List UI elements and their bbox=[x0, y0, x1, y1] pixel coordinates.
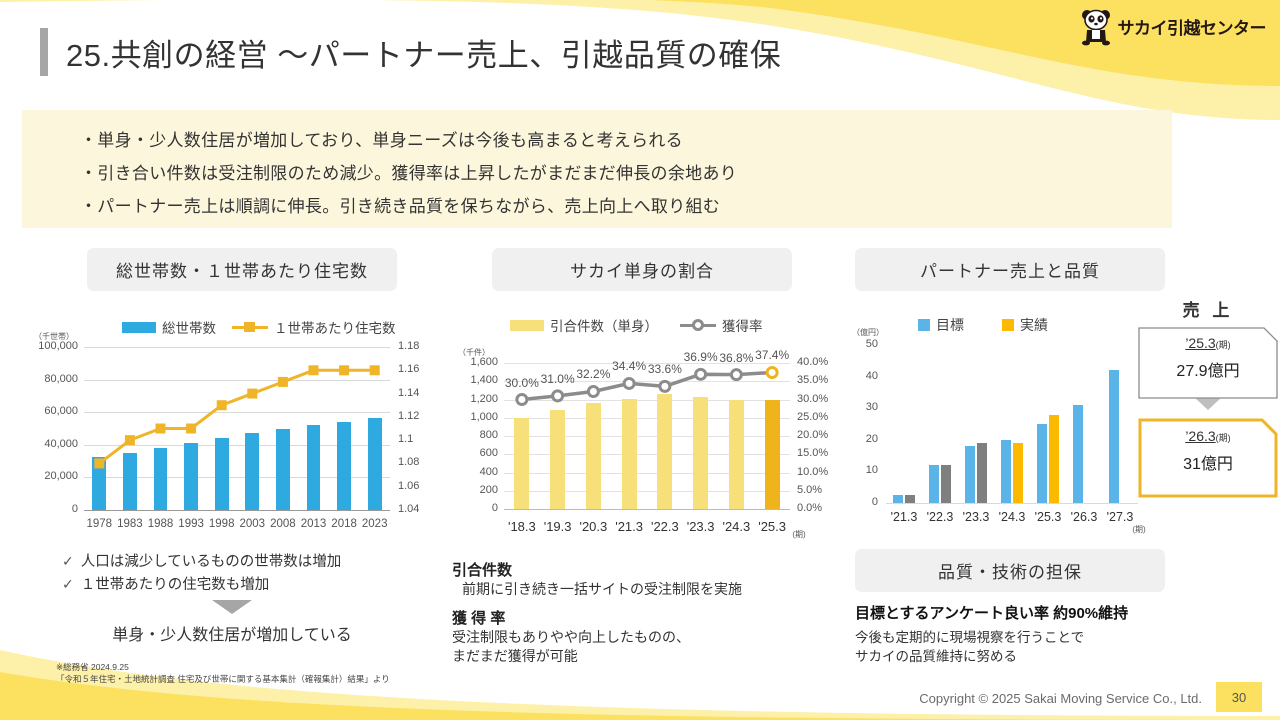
y-tick-left: 0 bbox=[452, 502, 498, 514]
quality-title: 目標とするアンケート良い率 約90%維持 bbox=[855, 602, 1270, 623]
gridline bbox=[84, 347, 390, 348]
gridline bbox=[504, 454, 790, 455]
sales-box-current: ’25.3(期) 27.9億円 bbox=[1138, 327, 1278, 391]
bar-target bbox=[965, 446, 976, 503]
bar-total-households bbox=[92, 457, 106, 510]
gridline bbox=[504, 509, 790, 510]
households-checklist: ✓人口は減少しているものの世帯数は増加 ✓１世帯あたりの住宅数も増加 bbox=[62, 550, 442, 596]
line-data-label: 33.6% bbox=[643, 362, 687, 376]
quality-body: 今後も定期的に現場視察を行うことで bbox=[855, 628, 1270, 647]
y-tick-right: 25.0% bbox=[797, 411, 845, 423]
bar-total-households bbox=[154, 448, 168, 510]
panda-icon bbox=[1080, 6, 1114, 46]
legend-label: 実績 bbox=[1020, 315, 1048, 335]
slide-header: 25.共創の経営 〜パートナー売上、引越品質の確保 サカイ引越センター bbox=[0, 0, 1280, 100]
y-tick-left: 1,600 bbox=[452, 356, 498, 368]
quality-heading: 品質・技術の担保 bbox=[855, 549, 1165, 592]
y-tick-right: 40.0% bbox=[797, 356, 845, 368]
column-households: 総世帯数・１世帯あたり住宅数 （千世帯）総世帯数１世帯あたり住宅数020,000… bbox=[22, 248, 442, 685]
title-accent-bar bbox=[40, 28, 48, 76]
legend-swatch bbox=[680, 319, 716, 331]
households-footnote: ※総務省 2024.9.25 「令和５年住宅・土地統計調査 住宅及び世帯に関する… bbox=[56, 661, 442, 685]
note-body: 受注制限もありやや向上したものの、 まだまだ獲得が可能 bbox=[452, 628, 842, 666]
gridline bbox=[504, 436, 790, 437]
bar-actual bbox=[977, 443, 988, 503]
y-tick-left: 50 bbox=[850, 338, 878, 350]
quality-body: サカイの品質維持に努める bbox=[855, 647, 1270, 666]
axis-baseline bbox=[886, 503, 1138, 504]
y-tick-left: 40,000 bbox=[22, 438, 78, 450]
y-tick-right: 1.08 bbox=[398, 456, 444, 468]
bar-target bbox=[1109, 370, 1120, 503]
bar-total-households bbox=[215, 438, 229, 510]
single-heading: サカイ単身の割合 bbox=[492, 248, 792, 291]
legend-total-households: 総世帯数 bbox=[122, 317, 216, 337]
page-number: 30 bbox=[1216, 682, 1262, 712]
bullet-line: ・単身・少人数住居が増加しており、単身ニーズは今後も高まると考えられる bbox=[80, 124, 1172, 157]
note-title: 獲 得 率 bbox=[452, 607, 842, 628]
sales-box-target: ’26.3(期) 31億円 bbox=[1138, 418, 1278, 486]
legend-swatch bbox=[510, 320, 544, 331]
bar-total-households bbox=[368, 418, 382, 510]
y-tick-right: 35.0% bbox=[797, 374, 845, 386]
column-single: サカイ単身の割合 （千件）引合件数（単身）獲得率02004006008001,0… bbox=[452, 248, 842, 666]
y-tick-left: 20,000 bbox=[22, 470, 78, 482]
y-tick-right: 5.0% bbox=[797, 484, 845, 496]
y-tick-right: 1.14 bbox=[398, 387, 444, 399]
bar-inquiries bbox=[765, 400, 780, 509]
bar-actual bbox=[1049, 415, 1060, 503]
legend-target: 目標 bbox=[918, 315, 964, 335]
bar-target bbox=[1073, 405, 1084, 503]
slide: 25.共創の経営 〜パートナー売上、引越品質の確保 サカイ引越センター ・単身・… bbox=[0, 0, 1280, 720]
y-tick-right: 1.06 bbox=[398, 480, 444, 492]
households-chart: （千世帯）総世帯数１世帯あたり住宅数020,00040,00060,00080,… bbox=[22, 305, 442, 540]
y-tick-right: 0.0% bbox=[797, 502, 845, 514]
legend-label: １世帯あたり住宅数 bbox=[274, 317, 396, 337]
note-body: 前期に引き続き一括サイトの受注制限を実施 bbox=[452, 580, 842, 599]
y-tick-left: 30 bbox=[850, 401, 878, 413]
bar-target bbox=[929, 465, 940, 503]
y-tick-left: 1,200 bbox=[452, 393, 498, 405]
check-item: ✓１世帯あたりの住宅数も増加 bbox=[62, 573, 442, 596]
line-acquisition-rate bbox=[452, 301, 842, 551]
y-tick-right: 15.0% bbox=[797, 447, 845, 459]
partner-sales-chart: （億円）目標実績01020304050'21.3'22.3'23.3'24.3'… bbox=[850, 305, 1150, 545]
bar-total-households bbox=[307, 425, 321, 510]
y-tick-left: 60,000 bbox=[22, 405, 78, 417]
y-tick-right: 1.04 bbox=[398, 503, 444, 515]
bar-total-households bbox=[123, 453, 137, 510]
x-tick: '27.3 bbox=[1101, 510, 1139, 524]
x-tick: '25.3 bbox=[1029, 510, 1067, 524]
bar-total-households bbox=[184, 443, 198, 510]
bar-actual bbox=[1013, 443, 1024, 503]
x-tick: '23.3 bbox=[957, 510, 995, 524]
bar-actual bbox=[905, 495, 916, 503]
bar-inquiries bbox=[586, 403, 601, 509]
footnote-line: ※総務省 2024.9.25 bbox=[56, 661, 442, 673]
single-notes: 引合件数 前期に引き続き一括サイトの受注制限を実施 獲 得 率 受注制限もありや… bbox=[452, 559, 842, 666]
legend-homes-per-household: １世帯あたり住宅数 bbox=[232, 317, 396, 337]
quality-section: 品質・技術の担保 目標とするアンケート良い率 約90%維持 今後も定期的に現場視… bbox=[850, 549, 1270, 666]
y-tick-left: 20 bbox=[850, 433, 878, 445]
households-heading: 総世帯数・１世帯あたり住宅数 bbox=[87, 248, 397, 291]
bar-inquiries bbox=[514, 418, 529, 509]
y-tick-right: 1.16 bbox=[398, 363, 444, 375]
y-tick-left: 200 bbox=[452, 484, 498, 496]
legend-actual: 実績 bbox=[1002, 315, 1048, 335]
households-conclusion: 単身・少人数住居が増加している bbox=[22, 621, 442, 645]
bar-actual bbox=[941, 465, 952, 503]
legend-label: 総世帯数 bbox=[162, 317, 216, 337]
bar-target bbox=[1037, 424, 1048, 503]
summary-bullets: ・単身・少人数住居が増加しており、単身ニーズは今後も高まると考えられる ・引き合… bbox=[22, 110, 1172, 228]
legend-swatch bbox=[918, 319, 930, 331]
y-axis-unit-left: （億円） bbox=[852, 327, 884, 338]
sales-year: ’25.3(期) bbox=[1138, 335, 1278, 351]
bar-inquiries bbox=[657, 394, 672, 509]
legend-swatch bbox=[232, 322, 268, 333]
footnote-line: 「令和５年住宅・土地統計調査 住宅及び世帯に関する基本集計（確報集計）結果」より bbox=[56, 673, 442, 685]
legend-swatch bbox=[122, 322, 156, 333]
y-tick-left: 0 bbox=[22, 503, 78, 515]
sales-amount: 31億円 bbox=[1138, 450, 1278, 474]
y-tick-left: 800 bbox=[452, 429, 498, 441]
column-partner: パートナー売上と品質 （億円）目標実績01020304050'21.3'22.3… bbox=[850, 248, 1270, 666]
x-tick: '26.3 bbox=[1065, 510, 1103, 524]
legend-acquisition-rate: 獲得率 bbox=[680, 315, 763, 335]
y-tick-right: 1.12 bbox=[398, 410, 444, 422]
title-text: 25.共創の経営 〜パートナー売上、引越品質の確保 bbox=[66, 30, 781, 75]
y-tick-left: 600 bbox=[452, 447, 498, 459]
y-tick-left: 0 bbox=[850, 496, 878, 508]
bar-total-households bbox=[337, 422, 351, 510]
bar-target bbox=[893, 495, 904, 503]
gridline bbox=[504, 418, 790, 419]
partner-heading: パートナー売上と品質 bbox=[855, 248, 1165, 291]
bar-target bbox=[1001, 440, 1012, 503]
sales-amount: 27.9億円 bbox=[1138, 357, 1278, 381]
note-title: 引合件数 bbox=[452, 559, 842, 580]
y-tick-left: 80,000 bbox=[22, 373, 78, 385]
y-tick-right: 1.1 bbox=[398, 433, 444, 445]
gridline bbox=[504, 491, 790, 492]
y-tick-left: 1,000 bbox=[452, 411, 498, 423]
gridline bbox=[504, 473, 790, 474]
down-arrow-icon bbox=[22, 598, 442, 621]
gridline bbox=[504, 400, 790, 401]
gridline bbox=[84, 510, 390, 511]
x-tick: 2023 bbox=[353, 518, 397, 530]
bar-total-households bbox=[276, 429, 290, 510]
y-tick-left: 1,400 bbox=[452, 374, 498, 386]
gridline bbox=[84, 380, 390, 381]
legend-label: 獲得率 bbox=[722, 315, 763, 335]
bar-total-households bbox=[245, 433, 259, 510]
line-data-label: 37.4% bbox=[750, 348, 794, 362]
single-ratio-chart: （千件）引合件数（単身）獲得率02004006008001,0001,2001,… bbox=[452, 301, 842, 551]
y-tick-left: 100,000 bbox=[22, 340, 78, 352]
legend-label: 引合件数（単身） bbox=[550, 315, 658, 335]
x-axis-suffix: (期) bbox=[1124, 524, 1154, 535]
copyright-text: Copyright © 2025 Sakai Moving Service Co… bbox=[919, 691, 1202, 706]
legend-swatch bbox=[1002, 319, 1014, 331]
bar-inquiries bbox=[693, 397, 708, 509]
x-axis-suffix: (期) bbox=[784, 529, 814, 540]
sales-year: ’26.3(期) bbox=[1138, 428, 1278, 444]
y-tick-left: 40 bbox=[850, 370, 878, 382]
y-tick-right: 1.18 bbox=[398, 340, 444, 352]
sales-title: 売 上 bbox=[1138, 296, 1278, 321]
legend-label: 目標 bbox=[936, 315, 964, 335]
check-item: ✓人口は減少しているものの世帯数は増加 bbox=[62, 550, 442, 573]
logo-text: サカイ引越センター bbox=[1118, 14, 1267, 39]
legend-inquiries: 引合件数（単身） bbox=[510, 315, 658, 335]
bar-inquiries bbox=[622, 399, 637, 509]
company-logo: サカイ引越センター bbox=[1080, 6, 1267, 46]
x-tick: '24.3 bbox=[993, 510, 1031, 524]
y-tick-left: 400 bbox=[452, 466, 498, 478]
x-tick: '22.3 bbox=[921, 510, 959, 524]
bullet-line: ・引き合い件数は受注制限のため減少。獲得率は上昇したがまだまだ伸長の余地あり bbox=[80, 157, 1172, 190]
y-tick-left: 10 bbox=[850, 464, 878, 476]
y-tick-right: 20.0% bbox=[797, 429, 845, 441]
x-tick: '21.3 bbox=[885, 510, 923, 524]
bullet-line: ・パートナー売上は順調に伸長。引き続き品質を保ちながら、売上向上へ取り組む bbox=[80, 190, 1172, 223]
y-tick-right: 10.0% bbox=[797, 466, 845, 478]
bar-inquiries bbox=[550, 410, 565, 509]
sales-callout: 売 上 ’25.3(期) 27.9億円 ’26.3(期) bbox=[1138, 296, 1278, 486]
bar-inquiries bbox=[729, 400, 744, 510]
gridline bbox=[84, 412, 390, 413]
page-title: 25.共創の経営 〜パートナー売上、引越品質の確保 bbox=[40, 28, 781, 76]
y-tick-right: 30.0% bbox=[797, 393, 845, 405]
